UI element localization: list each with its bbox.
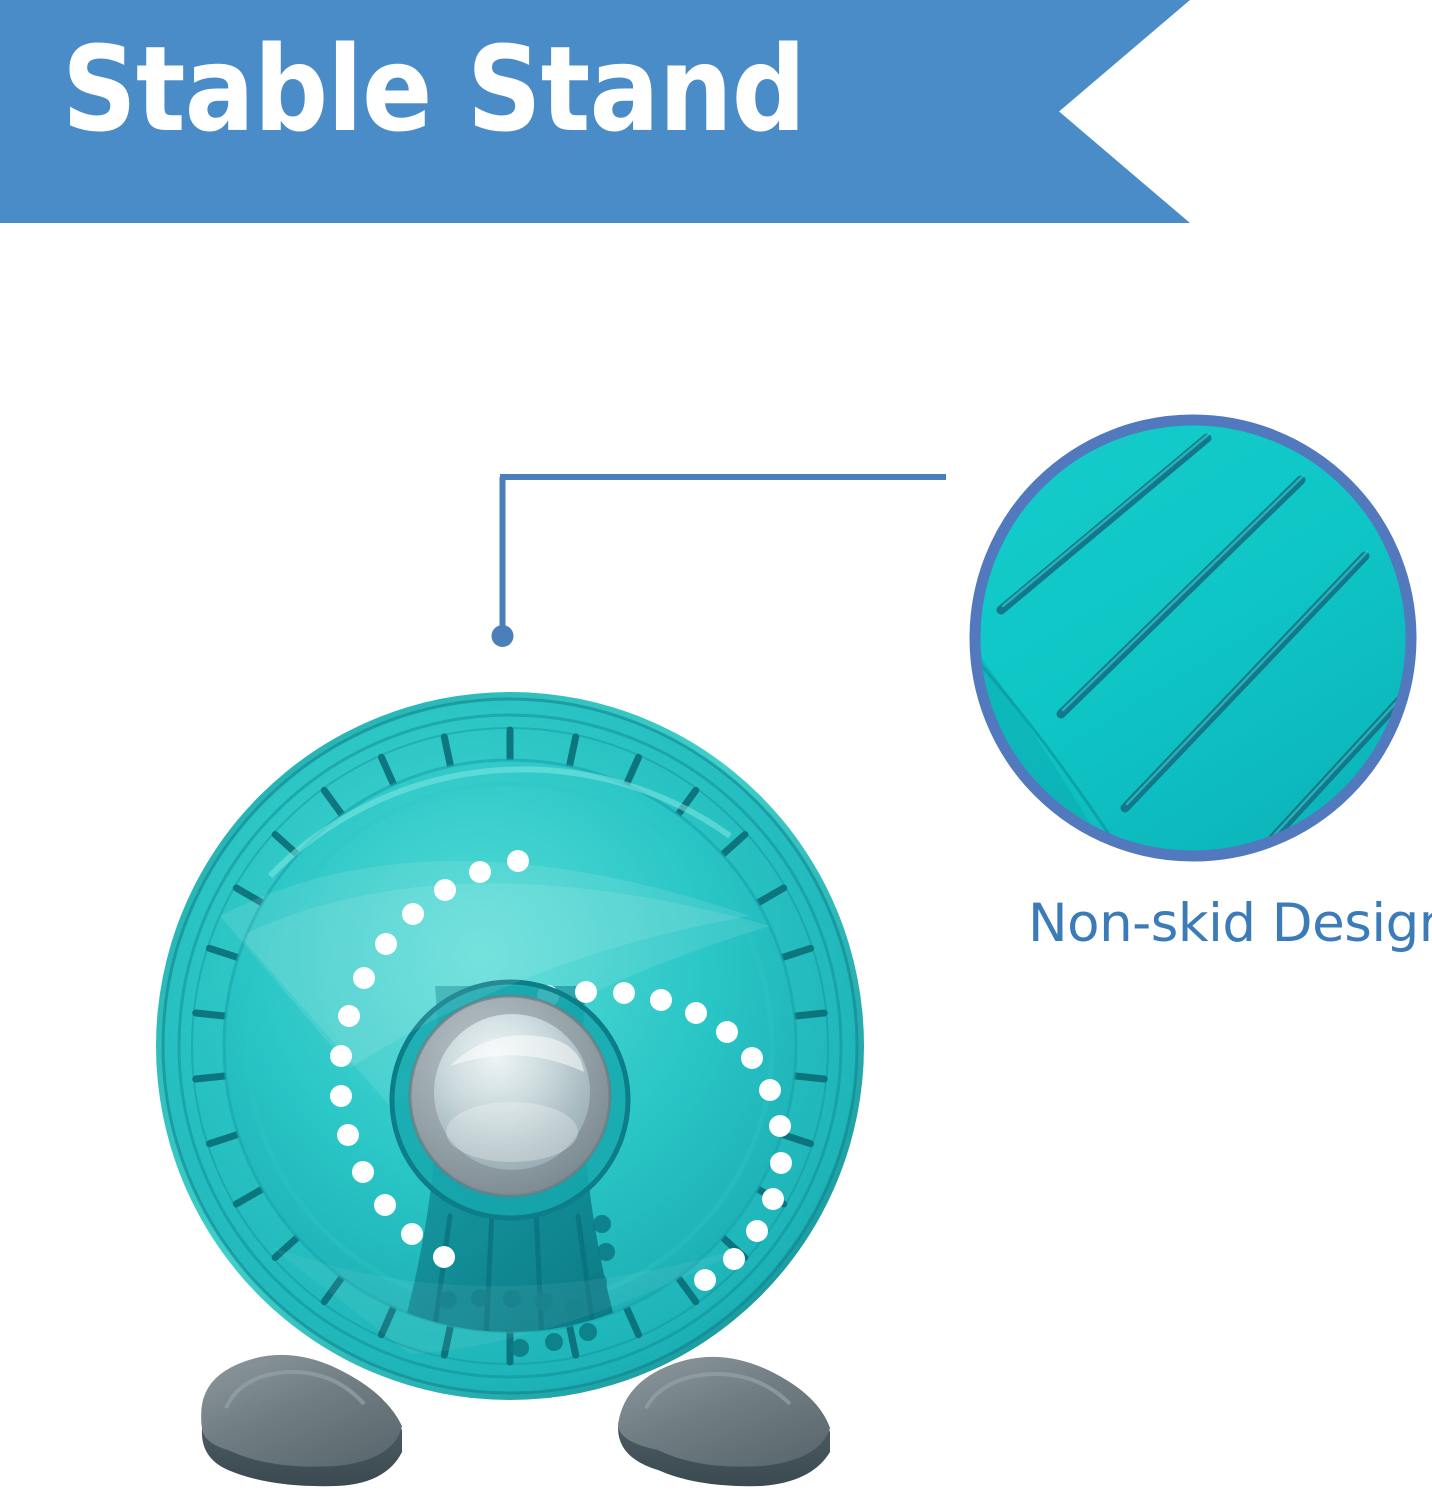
callout-svg: [480, 455, 970, 665]
callout-endpoint-dot: [492, 625, 514, 647]
banner-title: Stable Stand: [62, 30, 805, 148]
vent-hole: [694, 1269, 716, 1291]
vent-hole: [352, 1161, 374, 1183]
product-svg: [150, 686, 910, 1500]
zoom-bubble-content: [945, 410, 1421, 866]
vent-hole: [770, 1152, 792, 1174]
hub-dome-lower-sheen: [446, 1102, 578, 1162]
vent-hole: [769, 1115, 791, 1137]
header-banner: Stable Stand: [0, 0, 1190, 223]
vent-hole: [433, 1246, 455, 1268]
vent-hole: [330, 1085, 352, 1107]
vent-hole: [741, 1047, 763, 1069]
vent-hole: [685, 1002, 707, 1024]
vent-hole: [746, 1220, 768, 1242]
vent-hole: [613, 982, 635, 1004]
wheel-group: [156, 692, 864, 1403]
vent-hole: [575, 981, 597, 1003]
vent-hole: [401, 1223, 423, 1245]
cone-vent: [597, 1243, 615, 1261]
nonskid-surface: [965, 410, 1421, 866]
cone-vent: [579, 1323, 597, 1341]
vent-hole: [716, 1021, 738, 1043]
cone-vent: [511, 1339, 529, 1357]
zoom-caption: Non-skid Design: [1028, 895, 1432, 953]
cone-vent: [545, 1333, 563, 1351]
vent-hole: [759, 1079, 781, 1101]
callout-leader: [480, 455, 970, 665]
infographic-stage: Stable Stand: [0, 0, 1432, 1500]
vent-hole: [650, 989, 672, 1011]
stand-foot-right: [618, 1357, 830, 1486]
vent-hole: [762, 1188, 784, 1210]
stand-foot-left: [201, 1355, 402, 1486]
zoom-bubble: [965, 410, 1421, 866]
callout-line-group: [492, 477, 947, 647]
product-image-hamster-wheel: [150, 686, 910, 1500]
cone-vent: [593, 1215, 611, 1233]
vent-hole: [374, 1194, 396, 1216]
vent-hole: [337, 1124, 359, 1146]
zoom-bubble-svg: [965, 410, 1421, 866]
